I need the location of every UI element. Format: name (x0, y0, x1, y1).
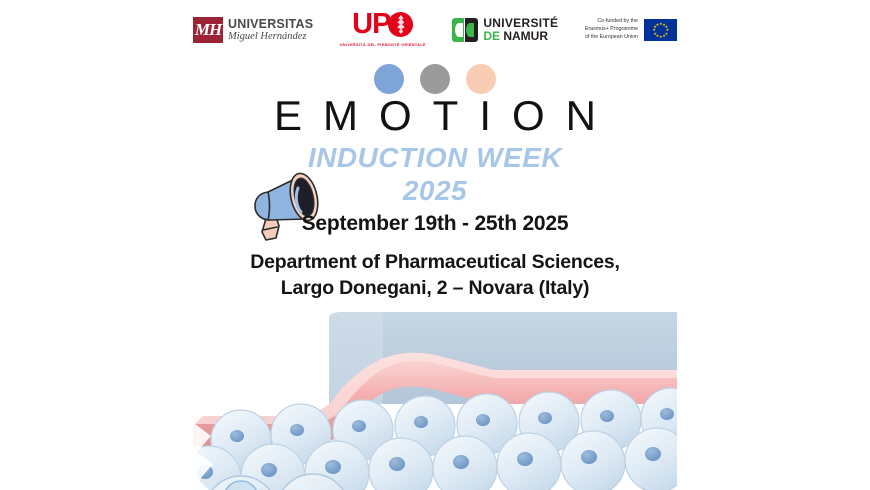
umh-mark-icon: MH (193, 17, 223, 43)
partner-logo-bar: MH UNIVERSITAS Miguel Hernández UP UNIVE… (193, 8, 677, 54)
induction-line1: INDUCTION WEEK (0, 141, 870, 174)
event-venue: Department of Pharmaceutical Sciences, L… (0, 250, 870, 302)
namur-namur: NAMUR (503, 29, 548, 43)
umh-line1: UNIVERSITAS (228, 18, 313, 31)
eu-flag-icon: ★★★★★★★★★★★★ (644, 19, 677, 41)
induction-week-title: INDUCTION WEEK 2025 (0, 141, 870, 207)
dot-gray (420, 64, 450, 94)
eu-star-icon: ★ (659, 35, 662, 38)
eu-star-icon: ★ (656, 23, 659, 26)
venue-line2: Largo Donegani, 2 – Novara (Italy) (0, 276, 870, 302)
upo-letters: UP (352, 10, 390, 39)
logo-universitas-miguel-hernandez: MH UNIVERSITAS Miguel Hernández (193, 8, 313, 43)
eu-line1: Co-funded by the (585, 18, 638, 26)
namur-de: DE (483, 29, 500, 43)
umh-line2: Miguel Hernández (228, 32, 313, 43)
eu-line2: Erasmus+ Programme (585, 26, 638, 34)
dot-blue (374, 64, 404, 94)
logo-eu-co-funded: Co-funded by the Erasmus+ Programme of t… (585, 8, 677, 42)
upo-subtitle: UNIVERSITÀ DEL PIEMONTE ORIENTALE (340, 43, 426, 47)
eu-line3: of the European Union (585, 34, 638, 42)
project-title: EMOTION (0, 95, 870, 137)
logo-universite-de-namur: UNIVERSITÉ DE NAMUR (452, 8, 558, 42)
namur-mark-icon (452, 18, 478, 42)
blister-pack-macro-photo (193, 312, 677, 490)
induction-line2: 2025 (0, 174, 870, 207)
upo-globe-icon (388, 12, 413, 37)
event-dates: September 19th - 25th 2025 (0, 212, 870, 236)
umh-wordmark: UNIVERSITAS Miguel Hernández (228, 18, 313, 42)
eu-star-icon: ★ (653, 32, 656, 35)
venue-line1: Department of Pharmaceutical Sciences, (0, 250, 870, 276)
namur-wordmark: UNIVERSITÉ DE NAMUR (483, 17, 558, 42)
eu-funding-text: Co-funded by the Erasmus+ Programme of t… (585, 18, 638, 42)
dot-peach (466, 64, 496, 94)
namur-line2: DE NAMUR (483, 30, 558, 43)
logo-upo: UP UNIVERSITÀ DEL PIEMONTE ORIENTALE (340, 8, 426, 47)
brand-dots-row (0, 64, 870, 94)
upo-wordmark: UP (340, 10, 426, 39)
